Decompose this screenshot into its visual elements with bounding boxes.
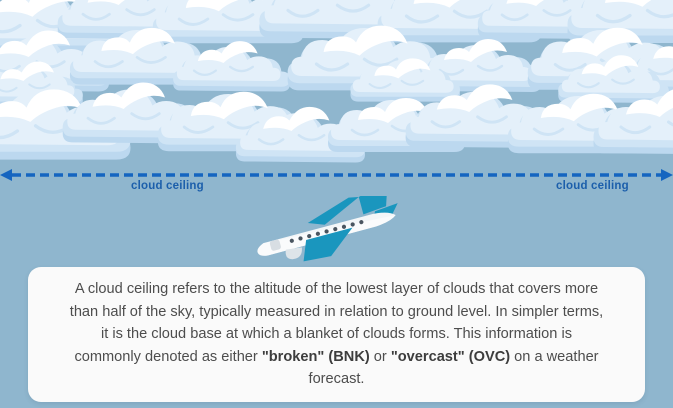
cloud-ceiling-infographic: cloud ceiling cloud ceiling <box>0 0 673 408</box>
description-card: A cloud ceiling refers to the altitude o… <box>28 267 645 402</box>
term-overcast: "overcast" (OVC) <box>391 349 510 365</box>
term-broken: "broken" (BNK) <box>262 349 370 365</box>
airplane-icon <box>248 196 408 262</box>
cloud-ceiling-label-left: cloud ceiling <box>131 180 204 192</box>
cloud-ceiling-label-right: cloud ceiling <box>556 180 629 192</box>
arrow-left-icon <box>0 169 12 181</box>
description-mid: or <box>370 349 391 365</box>
clouds-svg <box>0 0 673 185</box>
cloud-field <box>0 0 673 185</box>
arrow-right-icon <box>661 169 673 181</box>
description-text: A cloud ceiling refers to the altitude o… <box>68 278 605 391</box>
